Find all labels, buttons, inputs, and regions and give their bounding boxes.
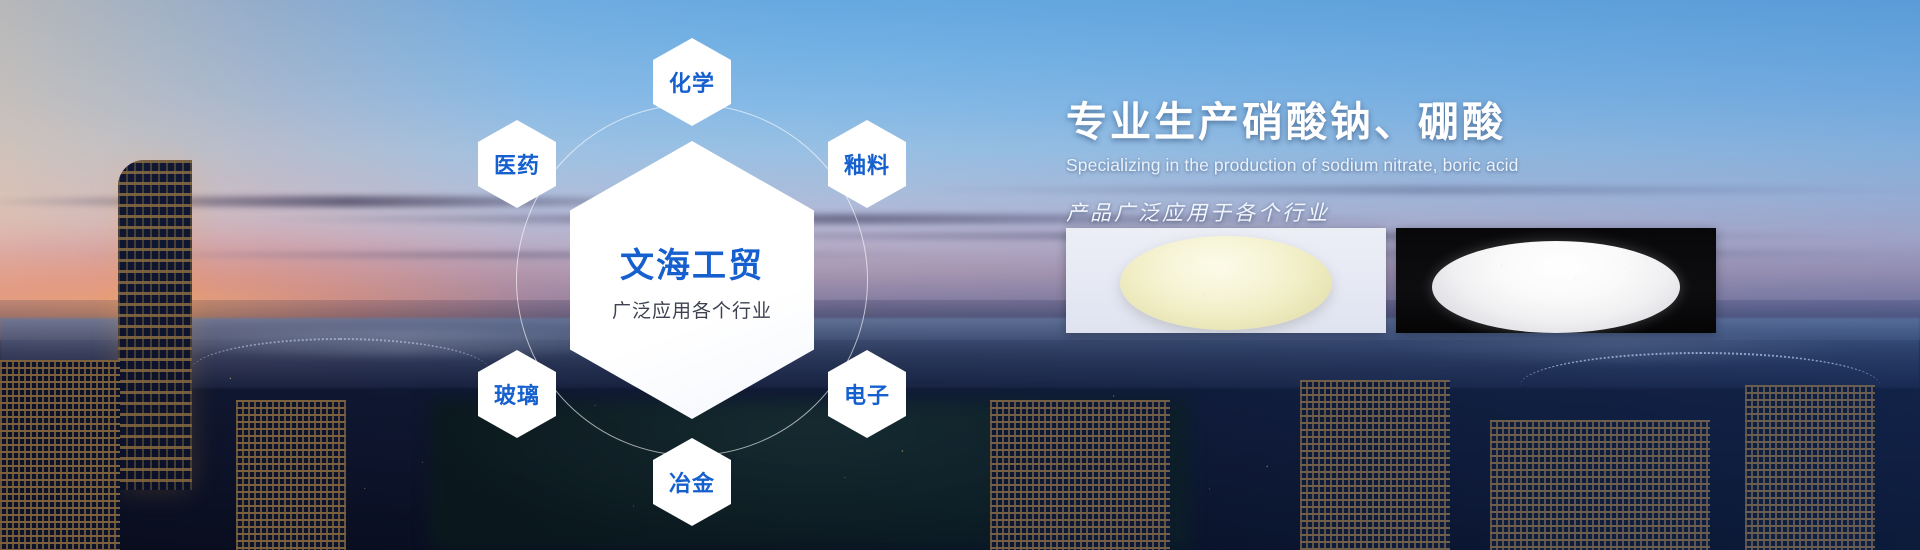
subheadline-text: Specializing in the production of sodium… xyxy=(1066,155,1876,176)
headline-text: 专业生产硝酸钠、硼酸 xyxy=(1066,98,1876,146)
company-slogan: 广泛应用各个行业 xyxy=(612,296,772,323)
company-name: 文海工贸 xyxy=(620,238,764,287)
tagline-text: 产品广泛应用于各个行业 xyxy=(1066,197,1876,227)
industry-hexagon-diagram: 化学 釉料 电子 冶金 玻璃 医药 文海工贸 广泛应用各个行业 xyxy=(432,20,952,540)
powder-heap xyxy=(1120,236,1332,330)
hex-node-label: 化学 xyxy=(669,66,715,98)
hex-node-label: 医药 xyxy=(494,148,540,180)
powder-heap xyxy=(1432,241,1680,333)
hex-node-label: 玻璃 xyxy=(494,378,540,410)
hex-node-label: 冶金 xyxy=(669,466,715,498)
product-photo-row xyxy=(1066,228,1716,333)
product-photo-boric-acid[interactable] xyxy=(1396,228,1716,333)
hex-node-label: 电子 xyxy=(844,378,890,410)
headline-panel: 专业生产硝酸钠、硼酸 Specializing in the productio… xyxy=(1066,98,1876,227)
hex-node-label: 釉料 xyxy=(844,148,890,180)
product-photo-sodium-nitrate[interactable] xyxy=(1066,228,1386,333)
promotional-banner: 化学 釉料 电子 冶金 玻璃 医药 文海工贸 广泛应用各个行业 专业生产硝酸钠、… xyxy=(0,0,1920,550)
